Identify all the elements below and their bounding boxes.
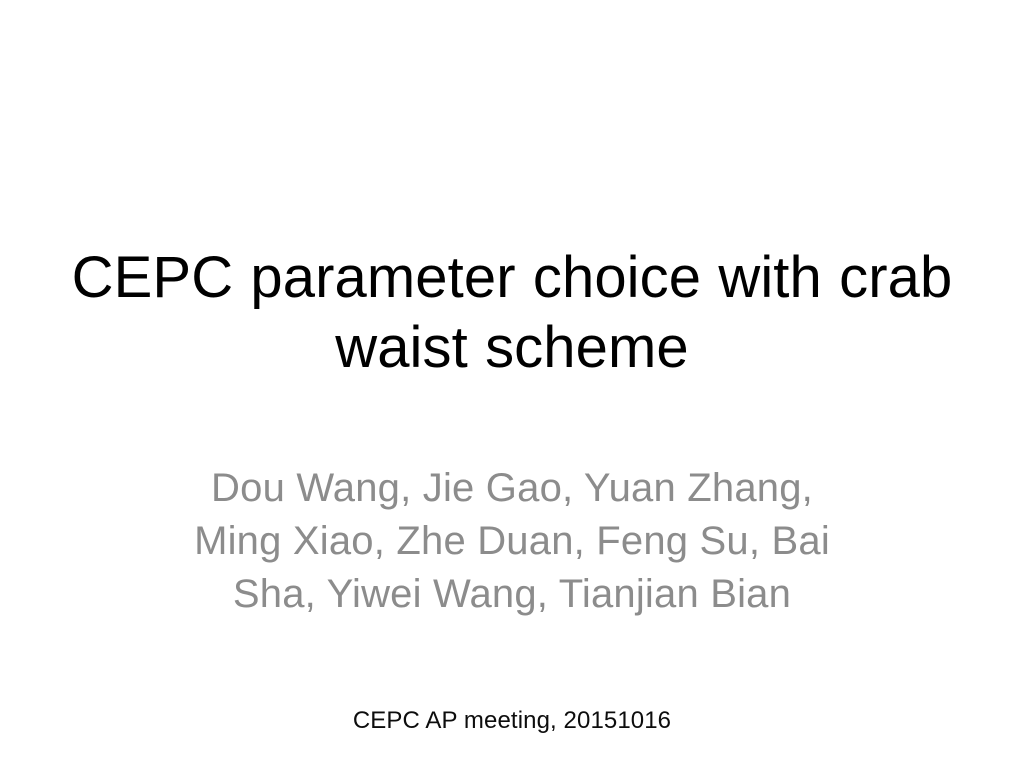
slide-title: CEPC parameter choice with crab waist sc… [62, 243, 962, 383]
title-placeholder: CEPC parameter choice with crab waist sc… [62, 243, 962, 383]
author-line-2: Ming Xiao, Zhe Duan, Feng Su, Bai [112, 515, 912, 568]
author-line-1: Dou Wang, Jie Gao, Yuan Zhang, [112, 462, 912, 515]
slide-canvas: CEPC parameter choice with crab waist sc… [0, 0, 1024, 768]
meeting-footer: CEPC AP meeting, 20151016 [0, 706, 1024, 736]
footer-placeholder: CEPC AP meeting, 20151016 [0, 706, 1024, 736]
subtitle-placeholder: Dou Wang, Jie Gao, Yuan Zhang, Ming Xiao… [112, 462, 912, 621]
author-line-3: Sha, Yiwei Wang, Tianjian Bian [112, 568, 912, 621]
